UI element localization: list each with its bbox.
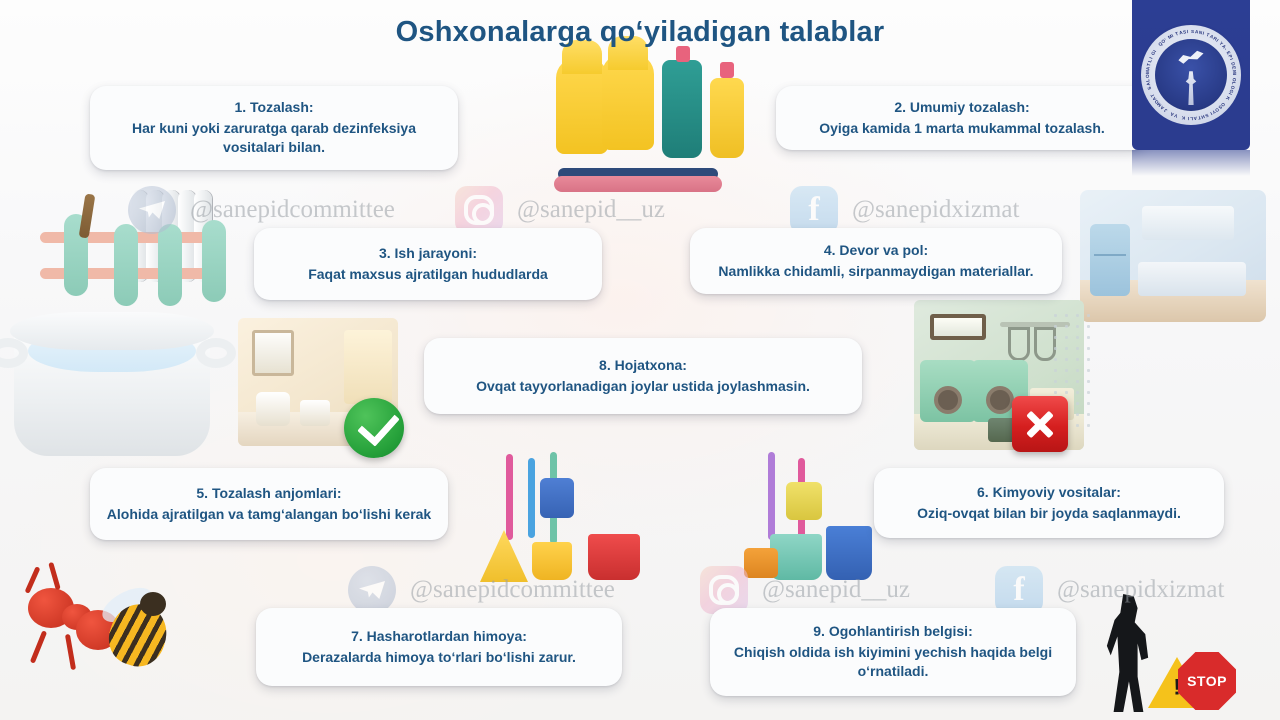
check-mark-icon [344,398,404,458]
sink [300,400,330,426]
ant-antenna [48,562,61,590]
card-body: Faqat maxsus ajratilgan hududlarda [308,265,548,284]
instagram-icon [700,566,748,614]
card-heading: 6. Kimyoviy vositalar: [977,483,1121,502]
ant-antenna [25,566,41,594]
room-walls [1080,190,1266,322]
card-body: Derazalarda himoya to‘rlari bo‘lishi zar… [302,648,576,667]
emblem-center [1155,39,1227,111]
requirement-card-8: 8. Hojatxona: Ovqat tayyorlanadigan joyl… [424,338,862,414]
clothes-hanger [1034,327,1056,361]
pot-rim [10,312,214,350]
watermark-handle: @sanepidxizmat [852,196,1019,224]
ant-head [28,588,74,628]
watermark-handle: @sanepidcommittee [410,576,615,604]
ant-leg [65,634,76,670]
card-body: Namlikka chidamli, sirpanmaydigan materi… [718,262,1033,281]
utensil [158,224,182,306]
requirement-card-4: 4. Devor va pol: Namlikka chidamli, sirp… [690,228,1062,294]
wall-cabinet [1142,206,1234,240]
hanging-rail [1000,322,1070,327]
card-body: Chiqish oldida ish kiyimini yechish haqi… [724,643,1062,682]
card-heading: 8. Hojatxona: [599,356,687,375]
requirement-card-5: 5. Tozalash anjomlari: Alohida ajratilga… [90,468,448,540]
facebook-icon [995,566,1043,614]
infographic-canvas: STOP @sanepidcommittee @sanepid__uz @san… [0,0,1280,720]
card-body: Ovqat tayyorlanadigan joylar ustida joyl… [476,377,810,396]
card-heading: 3. Ish jarayoni: [379,244,477,263]
wall-shelf [930,314,986,340]
stop-sign-icon: STOP [1178,652,1236,710]
card-heading: 2. Umumiy tozalash: [894,98,1029,117]
supply-tray-base [558,168,718,180]
requirement-card-3: 3. Ish jarayoni: Faqat maxsus ajratilgan… [254,228,602,300]
detergent-bottle [662,60,702,158]
card-heading: 7. Hasharotlardan himoya: [351,627,527,646]
kitchen-counter [1138,262,1246,296]
broom-handle [550,452,557,544]
watermark-telegram-2: @sanepidcommittee [348,566,615,614]
requirement-card-1: 1. Tozalash: Har kuni yoki zaruratga qar… [90,86,458,170]
card-body: Har kuni yoki zaruratga qarab dezinfeksi… [104,119,444,158]
bee-wing [97,581,157,629]
requirement-card-9: 9. Ogohlantirish belgisi: Chiqish oldida… [710,608,1076,696]
card-heading: 4. Devor va pol: [824,241,928,260]
insects-illustration [14,548,194,698]
wall-panel [344,330,392,404]
mop-bucket-illustration [470,452,650,582]
watermark-instagram-1: @sanepid__uz [455,186,665,234]
window [252,330,294,376]
committee-emblem: SANITARIYA-EPIDEMIOLOGIK OSOYISHTALIK VA… [1139,23,1243,127]
watermark-instagram-2: @sanepid__uz [700,566,910,614]
rack-bar [40,268,216,279]
broom-handle [798,458,805,538]
washer-door [934,386,962,414]
hazard-warning-icon [1148,656,1206,708]
requirement-card-6: 6. Kimyoviy vositalar: Oziq-ovqat bilan … [874,468,1224,538]
watermark-handle: @sanepid__uz [517,196,665,224]
telegram-icon [348,566,396,614]
ant-abdomen [76,610,120,650]
ant-leg [30,630,47,663]
watermark-handle: @sanepidcommittee [190,196,395,224]
watermark-facebook-2: @sanepidxizmat [995,566,1224,614]
requirement-card-7: 7. Hasharotlardan himoya: Derazalarda hi… [256,608,622,686]
card-body: Alohida ajratilgan va tamg‘alangan bo‘li… [107,505,431,524]
pot-handle-right [196,338,236,368]
watermark-handle: @sanepid__uz [762,576,910,604]
washer-door [986,386,1014,414]
cleaning-supplies-illustration [540,44,790,194]
pot-handle-left [0,338,28,368]
mop-handle [506,454,513,540]
washing-machine [920,360,976,422]
instagram-icon [455,186,503,234]
page-title: Oshxonalarga qo‘yiladigan talablar [0,16,1280,49]
card-body: Oziq-ovqat bilan bir joyda saqlanmaydi. [917,504,1181,523]
mop-head [540,478,574,518]
telegram-icon [128,186,176,234]
card-body: Oyiga kamida 1 marta mukammal tozalash. [819,119,1105,138]
clothes-hanger [1008,327,1030,361]
card-heading: 1. Tozalash: [234,98,313,117]
spray-trigger [720,62,734,78]
spray-bottle [710,78,744,158]
facebook-icon [790,186,838,234]
utensil [64,214,88,296]
watermark-handle: @sanepidxizmat [1057,576,1224,604]
requirement-card-2: 2. Umumiy tozalash: Oyiga kamida 1 marta… [776,86,1148,150]
cooking-pot [14,320,210,456]
wooden-brush [79,193,96,238]
refrigerator [1090,224,1130,296]
committee-logo-banner: SANITARIYA-EPIDEMIOLOGIK OSOYISHTALIK VA… [1132,0,1250,150]
toilet [256,392,290,426]
watermark-telegram-1: @sanepidcommittee [128,186,395,234]
broom-head [786,482,822,520]
bee-head [140,592,166,616]
utensil [114,224,138,306]
cross-mark-icon [1012,396,1068,452]
rubber-glove [602,54,654,150]
mop-handle [768,452,775,540]
room-floor [1080,280,1266,322]
rubber-glove [556,58,608,154]
card-heading: 5. Tozalash anjomlari: [196,484,341,503]
watermark-facebook-1: @sanepidxizmat [790,186,1019,234]
kitchen-room-illustration [1080,190,1266,322]
card-heading: 9. Ogohlantirish belgisi: [813,622,972,641]
ant-thorax [62,604,92,630]
mop-handle [528,458,535,538]
bee-body [102,597,174,673]
